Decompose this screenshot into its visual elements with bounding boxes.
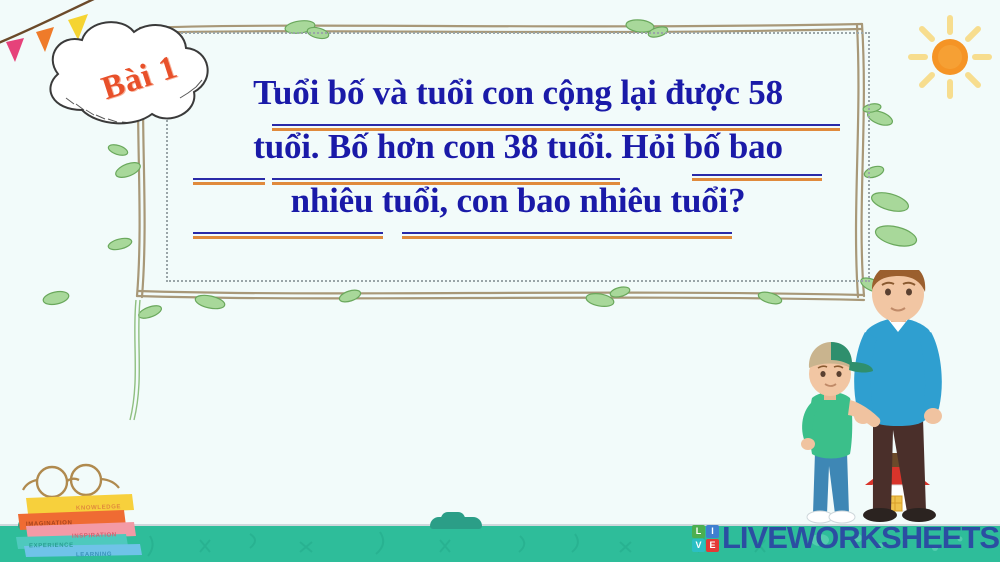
book-label: EXPERIENCE: [29, 543, 74, 550]
logo-square-l: L: [692, 525, 705, 538]
problem-statement: Tuổi bố và tuổi con cộng lại được 58 tuổ…: [180, 66, 856, 228]
logo-square-e: E: [706, 539, 719, 552]
exercise-badge: Bài 1: [30, 14, 230, 130]
worksheet-canvas: Tuổi bố và tuổi con cộng lại được 58 tuổ…: [0, 0, 1000, 562]
logo-squares: L I V E: [692, 525, 719, 552]
characters-illustration: [795, 270, 1000, 540]
book-stack: KNOWLEDGE IMAGINATION INSPIRATION EXPERI…: [4, 458, 154, 558]
problem-line: Tuổi bố và tuổi con cộng lại được 58: [180, 66, 856, 120]
logo-square-i: I: [706, 525, 719, 538]
logo-wordmark: LIVEWORKSHEETS: [722, 520, 999, 556]
logo-square-v: V: [692, 539, 705, 552]
eyeglasses-icon: [23, 465, 119, 497]
sun-icon: [905, 12, 995, 102]
boy-figure: [801, 342, 880, 523]
book-label: LEARNING: [76, 552, 112, 559]
liveworksheets-logo: L I V E LIVEWORKSHEETS: [692, 521, 999, 555]
tiny-car-icon: [430, 517, 482, 529]
